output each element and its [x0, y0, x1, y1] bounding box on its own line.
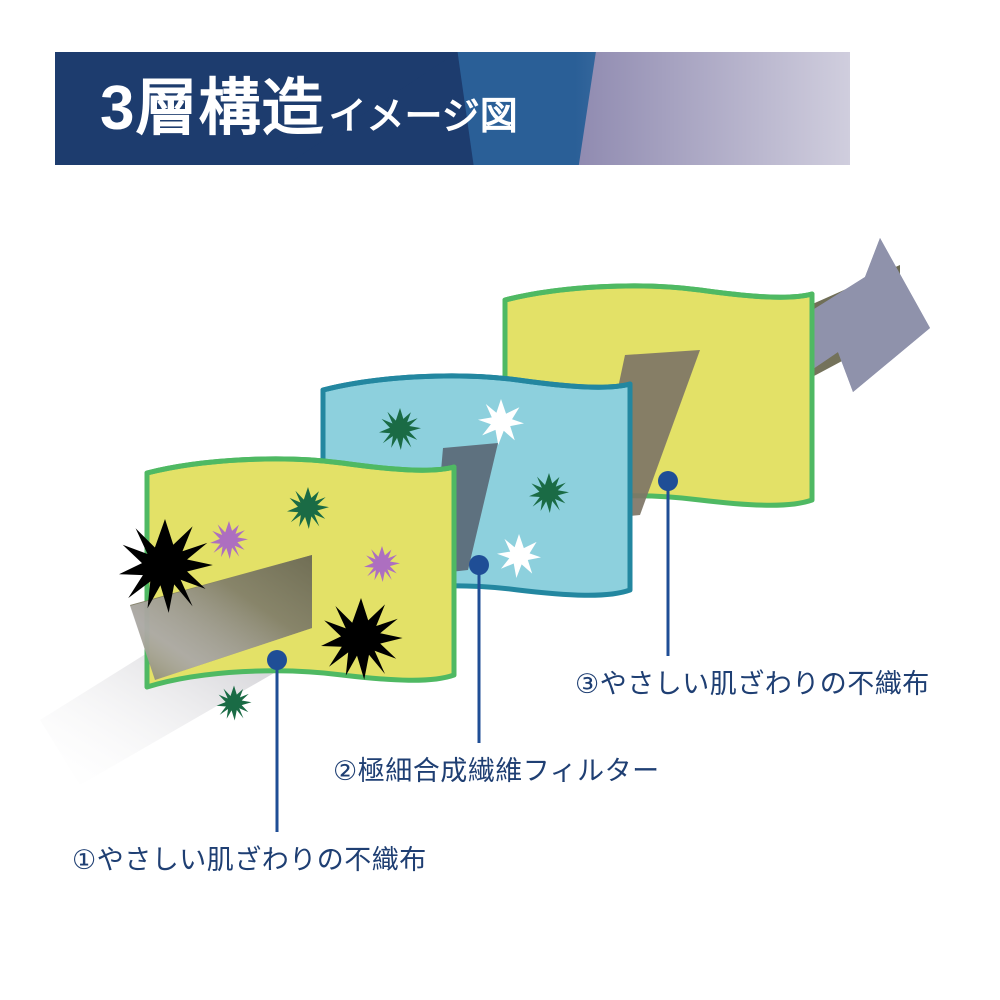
- banner-title: 3層構造 イメージ図: [100, 78, 518, 140]
- diagram-canvas: 3層構造 イメージ図: [0, 0, 1000, 1000]
- layer-label-1: ①やさしい肌ざわりの不織布: [72, 838, 427, 877]
- leader-2-dot: [469, 555, 489, 575]
- banner-title-sub: イメージ図: [328, 98, 517, 136]
- leader-1: [267, 650, 287, 832]
- front-nonwoven-layer: [119, 459, 454, 721]
- leader-3-dot: [658, 471, 678, 491]
- layer-label-2: ②極細合成繊維フィルター: [333, 749, 660, 788]
- leader-1-dot: [267, 650, 287, 670]
- layer-label-3: ③やさしい肌ざわりの不織布: [575, 662, 930, 701]
- banner-title-main: 3層構造: [100, 78, 324, 140]
